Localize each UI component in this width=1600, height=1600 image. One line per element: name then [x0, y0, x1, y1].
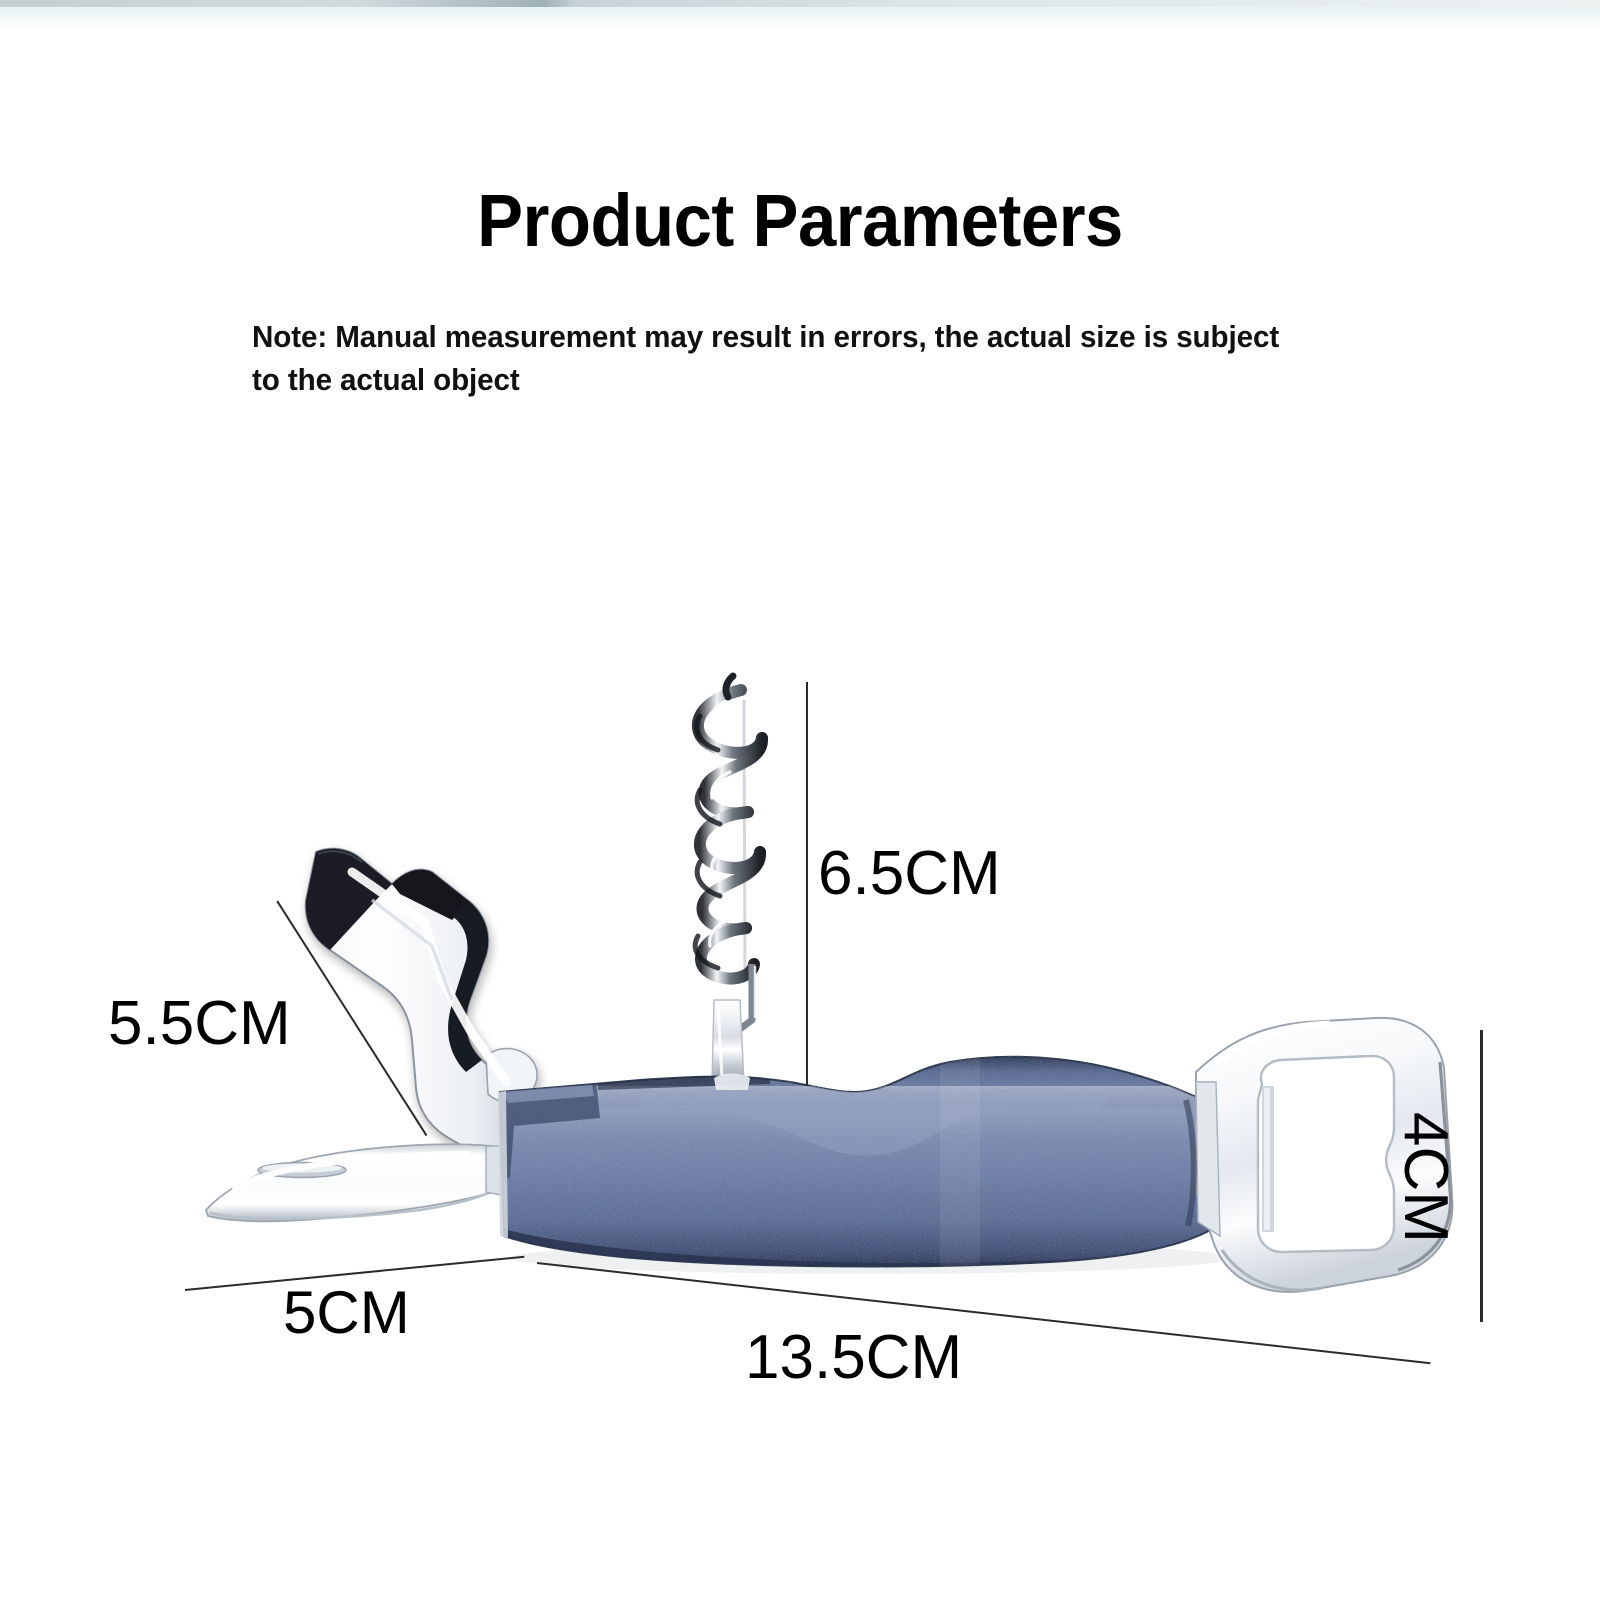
product-parameters-page: Product Parameters Note: Manual measurem…: [0, 0, 1600, 1600]
corkscrew-helix: [695, 676, 762, 1082]
handle: [498, 1057, 1216, 1270]
dimension-line-opener-height: [1480, 1030, 1483, 1322]
dimension-label-corkscrew-height: 6.5CM: [818, 838, 1001, 909]
corkscrew-tang: [712, 1000, 744, 1082]
dimension-label-lever-length: 5.5CM: [108, 988, 291, 1059]
dimension-label-blade-length: 5CM: [283, 1278, 410, 1347]
foil-cutter-blade: [206, 1144, 516, 1221]
dimension-label-opener-height: 4CM: [1390, 1112, 1461, 1243]
dimension-label-total-length: 13.5CM: [745, 1322, 962, 1393]
dimension-line-corkscrew-height: [806, 682, 808, 1086]
